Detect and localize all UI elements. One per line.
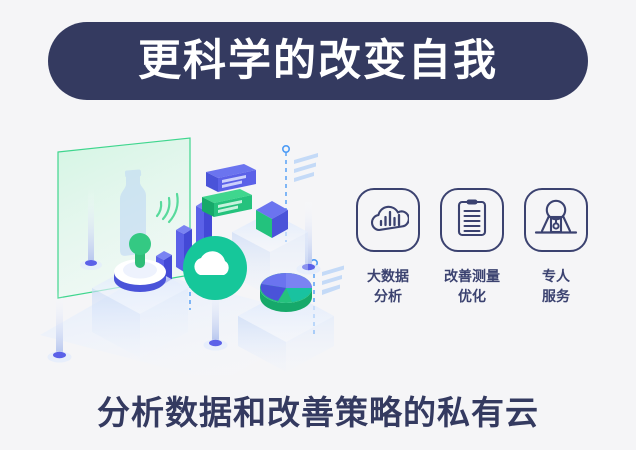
tagline: 分析数据和改善策略的私有云	[0, 386, 636, 434]
cloud-bar-chart-icon	[367, 201, 409, 240]
feature-card-2[interactable]	[440, 188, 504, 252]
poster-canvas: 更科学的改变自我	[0, 0, 636, 450]
label-card-blue	[206, 164, 256, 192]
support-agent-icon	[533, 198, 579, 243]
illustration-isometric-scene	[30, 120, 350, 375]
label-card-green	[202, 189, 252, 217]
feature-list: 大数据 分析	[352, 188, 592, 338]
pie-chart-3d	[260, 273, 312, 312]
feature-item-dedicated-service[interactable]: 专人 服务	[520, 188, 592, 338]
page-title: 更科学的改变自我	[138, 40, 498, 83]
feature-label-1: 大数据 分析	[367, 266, 409, 307]
feature-label-2: 改善测量 优化	[444, 266, 500, 307]
feature-item-measurement-optimization[interactable]: 改善测量 优化	[436, 188, 508, 338]
cloud-badge	[183, 236, 247, 300]
header-banner: 更科学的改变自我	[48, 22, 588, 100]
feature-card-3[interactable]	[524, 188, 588, 252]
feature-label-3: 专人 服务	[542, 266, 570, 307]
feature-card-1[interactable]	[356, 188, 420, 252]
feature-item-big-data-analysis[interactable]: 大数据 分析	[352, 188, 424, 338]
clipboard-lines-icon	[455, 198, 489, 243]
